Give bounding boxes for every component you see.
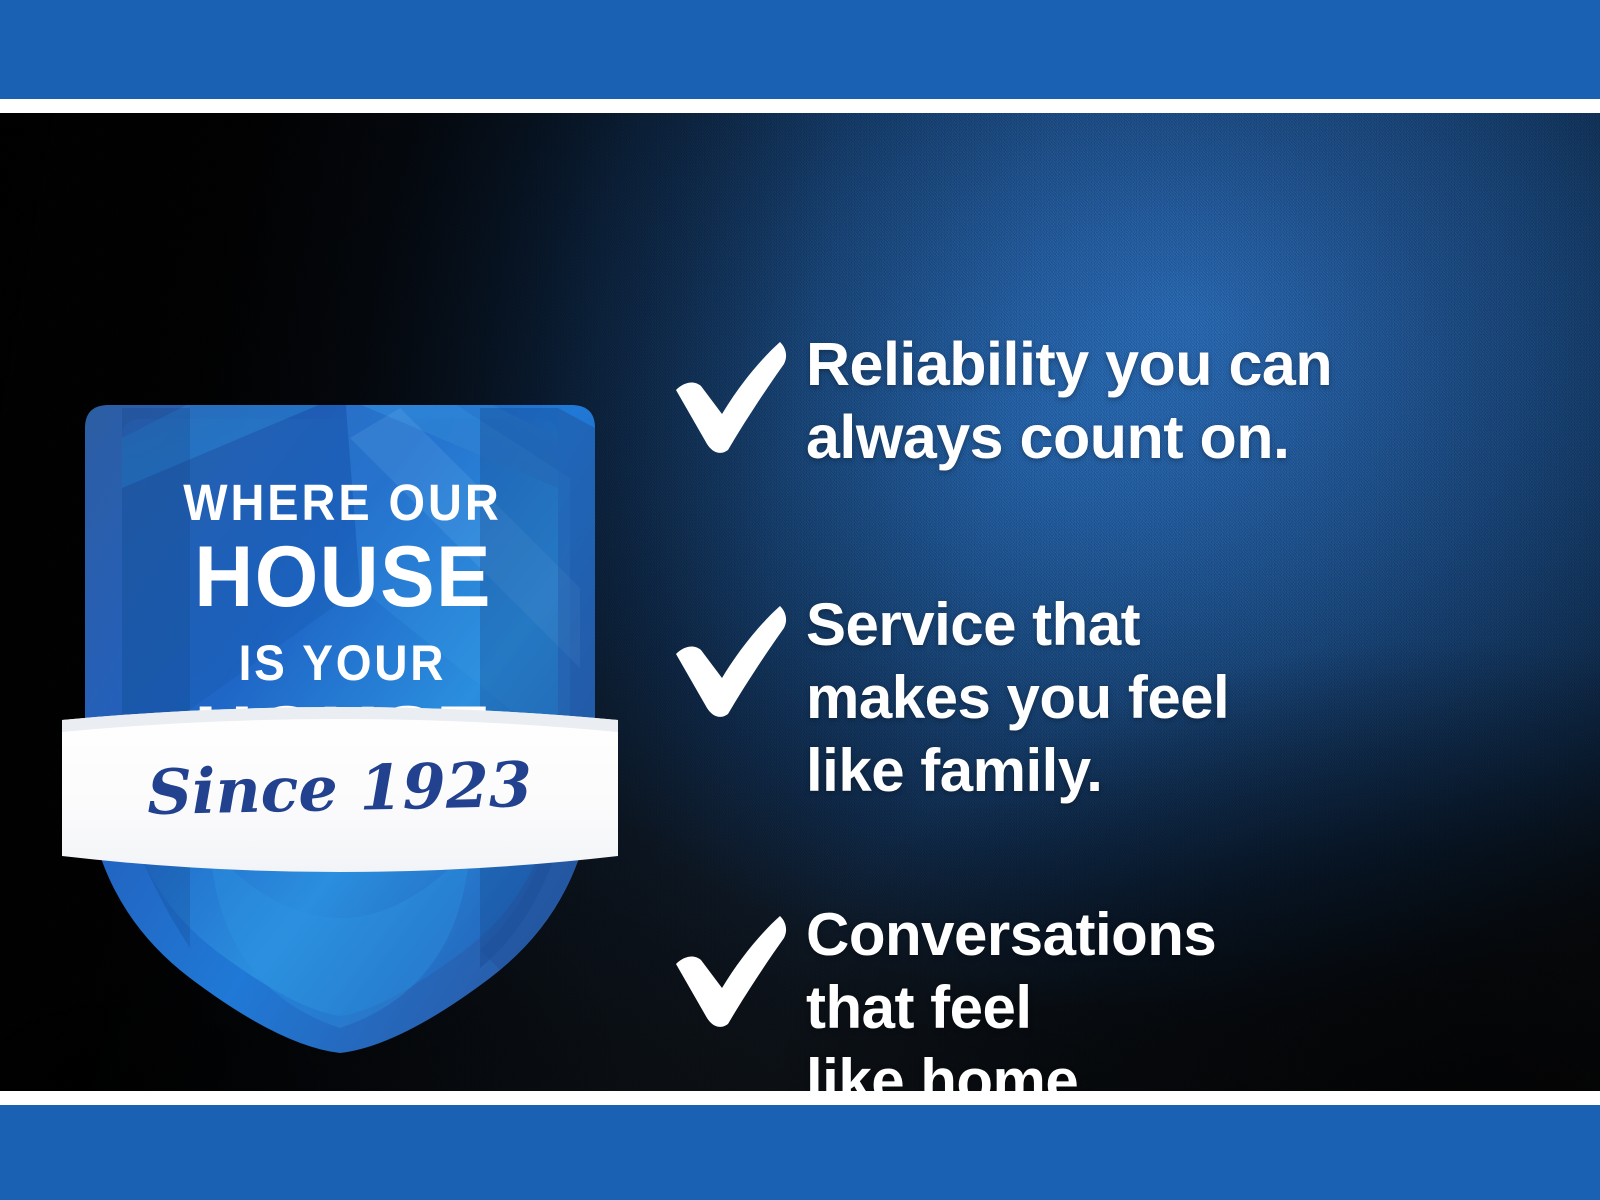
list-item-label: Reliability you can always count on. <box>806 328 1332 474</box>
logo-line-3: IS YOUR <box>239 636 447 691</box>
logo-line-1: WHERE OUR <box>183 475 501 531</box>
checkmark-icon <box>670 338 792 456</box>
list-item: Conversations that feel like home. <box>670 898 1216 1091</box>
brand-bar-bottom <box>0 1105 1600 1200</box>
list-item: Service that makes you feel like family. <box>670 588 1229 807</box>
shield-logo: WHERE OUR HOUSE IS YOUR HOUSE Since 1923 <box>60 288 620 1078</box>
main-panel: WHERE OUR HOUSE IS YOUR HOUSE Since 1923 <box>0 113 1600 1091</box>
logo-line-2: HOUSE <box>194 528 492 624</box>
list-item-label: Conversations that feel like home. <box>806 898 1216 1091</box>
brand-bar-top <box>0 0 1600 99</box>
list-item: Reliability you can always count on. <box>670 328 1332 474</box>
checkmark-icon <box>670 912 792 1030</box>
ribbon-script: Since 1923 <box>146 748 532 829</box>
promo-graphic: WHERE OUR HOUSE IS YOUR HOUSE Since 1923 <box>0 0 1600 1200</box>
checkmark-icon <box>670 602 792 720</box>
ribbon-banner: Since 1923 <box>62 707 618 872</box>
list-item-label: Service that makes you feel like family. <box>806 588 1229 807</box>
